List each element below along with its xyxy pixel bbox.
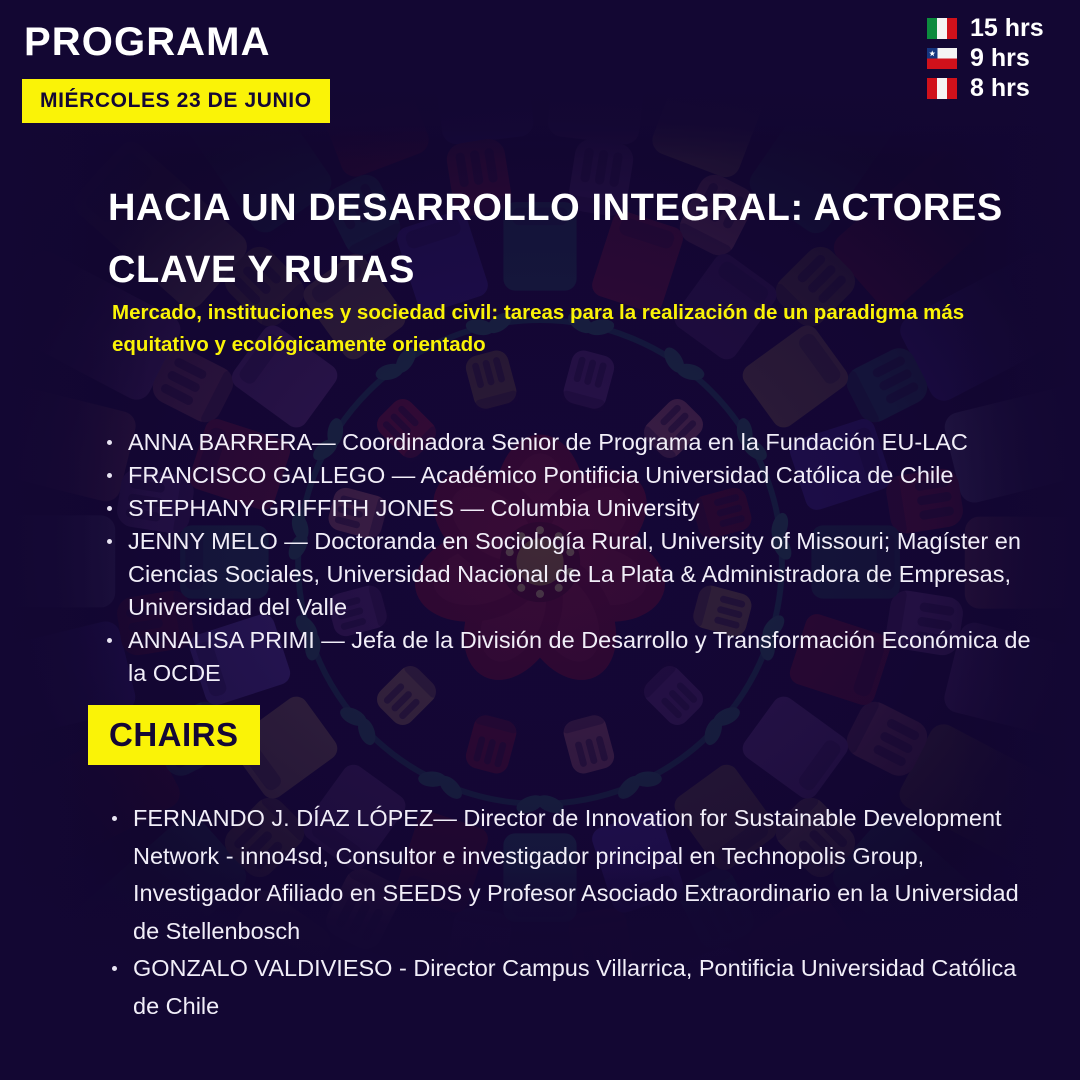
date-badge: MIÉRCOLES 23 DE JUNIO — [22, 79, 330, 123]
hour-label-chile: 9 hrs — [970, 46, 1052, 71]
timezone-hours-block: 15 hrs 9 hrs 8 hrs — [927, 16, 1052, 101]
session-title: HACIA UN DESARROLLO INTEGRAL: ACTORES CL… — [108, 178, 1013, 301]
peru-flag — [927, 78, 957, 99]
list-item: JENNY MELO — Doctoranda en Sociología Ru… — [100, 525, 1035, 624]
chile-flag — [927, 48, 957, 69]
list-item: STEPHANY GRIFFITH JONES — Columbia Unive… — [100, 492, 1035, 525]
list-item: ANNALISA PRIMI — Jefa de la División de … — [100, 624, 1035, 690]
hour-label-italy: 15 hrs — [970, 16, 1052, 41]
list-item: GONZALO VALDIVIESO - Director Campus Vil… — [105, 950, 1035, 1025]
hour-label-peru: 8 hrs — [970, 76, 1052, 101]
chairs-badge: CHAIRS — [88, 705, 260, 765]
header-block: PROGRAMA MIÉRCOLES 23 DE JUNIO — [22, 22, 330, 123]
list-item: FRANCISCO GALLEGO — Académico Pontificia… — [100, 459, 1035, 492]
page-title: PROGRAMA — [24, 22, 330, 62]
list-item: ANNA BARRERA— Coordinadora Senior de Pro… — [100, 426, 1035, 459]
session-subtitle: Mercado, instituciones y sociedad civil:… — [112, 297, 992, 361]
hour-row-italy: 15 hrs — [927, 16, 1052, 41]
italy-flag — [927, 18, 957, 39]
chairs-list: FERNANDO J. DÍAZ LÓPEZ— Director de Inno… — [105, 800, 1035, 1025]
speakers-list: ANNA BARRERA— Coordinadora Senior de Pro… — [100, 426, 1035, 690]
list-item: FERNANDO J. DÍAZ LÓPEZ— Director de Inno… — [105, 800, 1035, 950]
hour-row-chile: 9 hrs — [927, 46, 1052, 71]
program-poster: PROGRAMA MIÉRCOLES 23 DE JUNIO 15 hrs — [0, 0, 1080, 1080]
hour-row-peru: 8 hrs — [927, 76, 1052, 101]
poster-content: PROGRAMA MIÉRCOLES 23 DE JUNIO 15 hrs — [0, 0, 1080, 1080]
